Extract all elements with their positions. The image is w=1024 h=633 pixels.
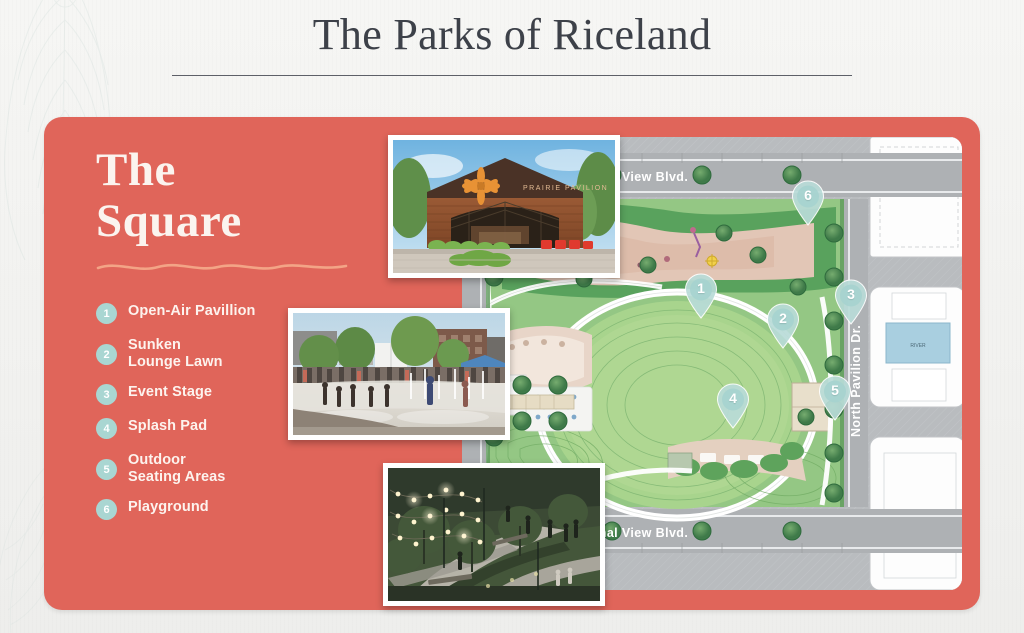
- map-pin-number: 5: [818, 382, 852, 398]
- photo-pavilion[interactable]: PRAIRIE PAVILION: [388, 135, 620, 278]
- map-pin-number: 4: [716, 390, 750, 406]
- legend-number-badge: 5: [96, 459, 117, 480]
- legend-number-badge: 1: [96, 303, 117, 324]
- map-pin-2[interactable]: 2: [766, 303, 800, 349]
- legend-item-label: Open-Air Pavillion: [128, 302, 256, 320]
- section-title-line-1: The: [96, 145, 366, 196]
- legend-item-5[interactable]: 5 Outdoor Seating Areas: [96, 451, 366, 486]
- map-pin-3[interactable]: 3: [834, 279, 868, 325]
- section-title-line-2: Square: [96, 196, 366, 247]
- photo-splash-pad-image: [293, 313, 505, 435]
- photo-splash-pad[interactable]: [288, 308, 510, 440]
- map-pin-6[interactable]: 6: [791, 180, 825, 226]
- page-header: The Parks of Riceland: [0, 0, 1024, 100]
- map-pin-1[interactable]: 1: [684, 273, 718, 319]
- map-pin-4[interactable]: 4: [716, 383, 750, 429]
- legend-number-badge: 4: [96, 418, 117, 439]
- legend-item-label: Splash Pad: [128, 417, 207, 435]
- map-pin-number: 1: [684, 280, 718, 296]
- legend-number-badge: 2: [96, 344, 117, 365]
- map-pin-number: 6: [791, 187, 825, 203]
- map-pin-number: 2: [766, 310, 800, 326]
- title-divider: [172, 75, 852, 76]
- section-title: The Square: [96, 145, 366, 247]
- page-title: The Parks of Riceland: [0, 0, 1024, 62]
- svg-text:RIVER: RIVER: [910, 343, 926, 349]
- photo-evening-plaza[interactable]: [383, 463, 605, 606]
- legend-item-6[interactable]: 6 Playground: [96, 498, 366, 520]
- legend-item-label: Outdoor Seating Areas: [128, 451, 225, 486]
- photo-evening-plaza-image: [388, 468, 600, 601]
- legend-item-label: Sunken Lounge Lawn: [128, 336, 223, 371]
- legend-item-label: Event Stage: [128, 383, 212, 401]
- wavy-underline-icon: [96, 261, 348, 273]
- map-pin-number: 3: [834, 286, 868, 302]
- svg-text:PRAIRIE PAVILION: PRAIRIE PAVILION: [523, 185, 608, 192]
- photo-pavilion-image: PRAIRIE PAVILION: [393, 140, 615, 273]
- legend-number-badge: 6: [96, 499, 117, 520]
- legend-item-label: Playground: [128, 498, 209, 516]
- legend-number-badge: 3: [96, 384, 117, 405]
- map-pin-5[interactable]: 5: [818, 375, 852, 421]
